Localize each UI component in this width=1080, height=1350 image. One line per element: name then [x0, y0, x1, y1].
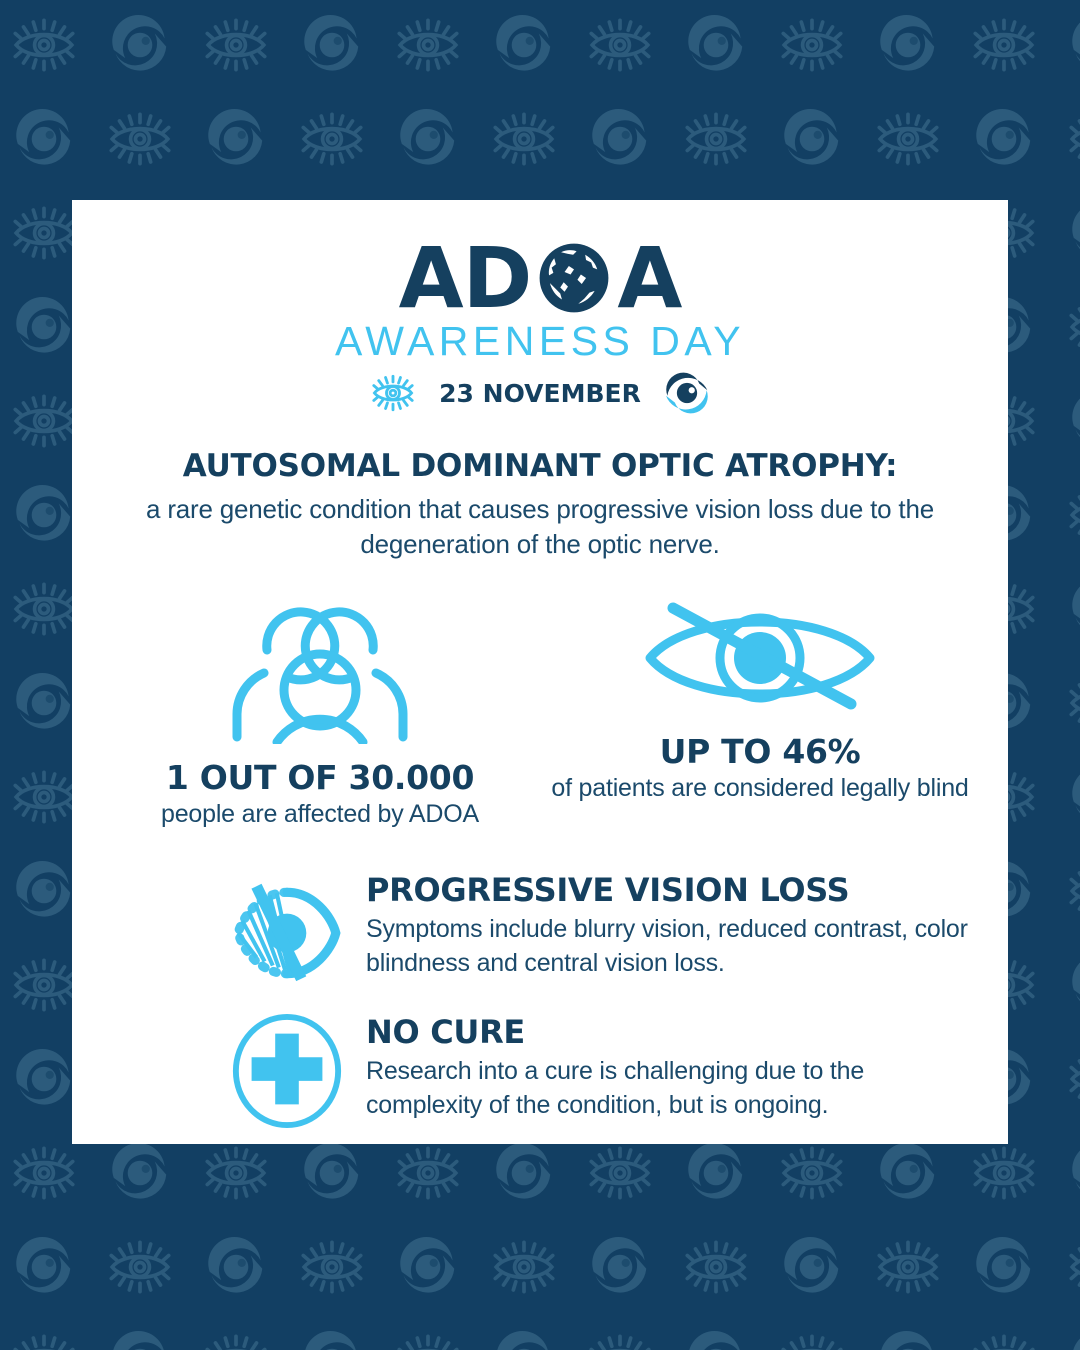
- features-list: PROGRESSIVE VISION LOSS Symptoms include…: [72, 868, 1008, 1130]
- feature-title: NO CURE: [366, 1012, 968, 1052]
- stats-row: 1 OUT OF 30.000 people are affected by A…: [72, 592, 1008, 830]
- logo-word-right: A: [617, 234, 681, 322]
- content-card: AD A AWARENESS DAY: [72, 200, 1008, 1144]
- page-subtitle: a rare genetic condition that causes pro…: [124, 492, 956, 562]
- feature-icon-wrap: [222, 1010, 352, 1130]
- page-title: AUTOSOMAL DOMINANT OPTIC ATROPHY:: [124, 446, 956, 486]
- headline-block: AUTOSOMAL DOMINANT OPTIC ATROPHY: a rare…: [72, 446, 1008, 562]
- stat-prevalence: 1 OUT OF 30.000 people are affected by A…: [100, 592, 540, 830]
- swirl-eye-icon: [661, 370, 713, 416]
- feature-icon-wrap: [222, 868, 352, 994]
- logo-tagline: AWARENESS DAY: [72, 318, 1008, 364]
- adoa-logo: AD A AWARENESS DAY: [72, 234, 1008, 416]
- stat-icon-wrap: [100, 592, 540, 744]
- feature-progressive-vision-loss: PROGRESSIVE VISION LOSS Symptoms include…: [222, 868, 968, 994]
- logo-word-left: AD: [399, 234, 532, 322]
- medical-cross-circle-icon: [228, 1012, 346, 1130]
- logo-wordmark: AD A: [72, 234, 1008, 322]
- feature-title: PROGRESSIVE VISION LOSS: [366, 870, 968, 910]
- logo-date: 23 NOVEMBER: [439, 379, 641, 408]
- stat-caption: of patients are considered legally blind: [540, 772, 980, 804]
- stat-caption: people are affected by ADOA: [100, 798, 540, 830]
- people-group-icon: [195, 592, 445, 744]
- logo-date-row: 23 NOVEMBER: [72, 370, 1008, 416]
- feature-body: Research into a cure is challenging due …: [366, 1054, 968, 1122]
- feature-body: Symptoms include blurry vision, reduced …: [366, 912, 968, 980]
- feature-text: NO CURE Research into a cure is challeng…: [352, 1010, 968, 1122]
- feature-no-cure: NO CURE Research into a cure is challeng…: [222, 1010, 968, 1130]
- stat-value: UP TO 46%: [540, 732, 980, 772]
- crossed-out-eye-icon: [635, 592, 885, 724]
- lashed-eye-icon: [367, 373, 419, 413]
- stat-legal-blindness: UP TO 46% of patients are considered leg…: [540, 592, 980, 830]
- blurred-eye-slash-icon: [226, 872, 348, 994]
- stat-icon-wrap: [540, 592, 980, 724]
- globe-icon: [531, 235, 617, 321]
- feature-text: PROGRESSIVE VISION LOSS Symptoms include…: [352, 868, 968, 980]
- stat-value: 1 OUT OF 30.000: [100, 758, 540, 798]
